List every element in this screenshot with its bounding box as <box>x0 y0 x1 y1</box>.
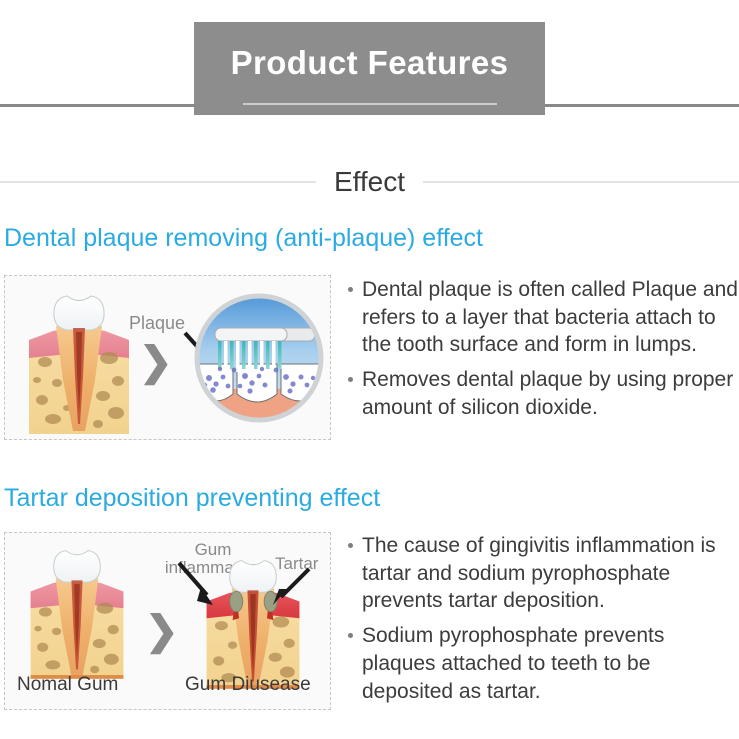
divider-line-left <box>0 181 316 183</box>
plaque-annotation-label: Plaque <box>129 314 185 333</box>
list-item: Sodium pyrophosphate prevents plaques at… <box>347 622 739 705</box>
section-divider: Effect <box>0 160 739 204</box>
feature-heading-anti-plaque: Dental plaque removing (anti-plaque) eff… <box>4 226 483 251</box>
page-header: Product Features <box>0 0 739 140</box>
figure-tartar-deposition: ❯ Gum inflammation Tartar <box>4 532 331 710</box>
brushing-plaque-circle-icon <box>193 290 325 426</box>
feature-bullets-tartar-prevention: The cause of gingivitis inflammation is … <box>347 532 739 712</box>
feature-heading-tartar-prevention: Tartar deposition preventing effect <box>4 486 380 511</box>
healthy-tooth-cross-section-icon <box>23 288 135 434</box>
list-item: The cause of gingivitis inflammation is … <box>347 532 739 615</box>
page-title: Product Features <box>231 46 509 79</box>
normal-gum-tooth-icon <box>25 543 129 679</box>
arrow-right-icon: ❯ <box>139 342 173 382</box>
figure-caption-gum-disease: Gum Diusease <box>185 675 311 694</box>
arrow-right-icon: ❯ <box>145 611 179 651</box>
tartar-pointer-arrow-icon <box>269 567 315 611</box>
figure-anti-plaque: Plaque ❯ <box>4 275 331 440</box>
gum-inflammation-pointer-arrow-icon <box>175 561 223 611</box>
header-banner: Product Features <box>194 22 545 115</box>
list-item: Removes dental plaque by using proper am… <box>347 366 739 421</box>
header-banner-underline <box>243 103 497 105</box>
section-title: Effect <box>316 168 423 196</box>
figure-caption-normal-gum: Nomal Gum <box>17 675 118 694</box>
list-item: Dental plaque is often called Plaque and… <box>347 276 739 359</box>
divider-line-right <box>423 181 739 183</box>
feature-bullets-anti-plaque: Dental plaque is often called Plaque and… <box>347 276 739 429</box>
